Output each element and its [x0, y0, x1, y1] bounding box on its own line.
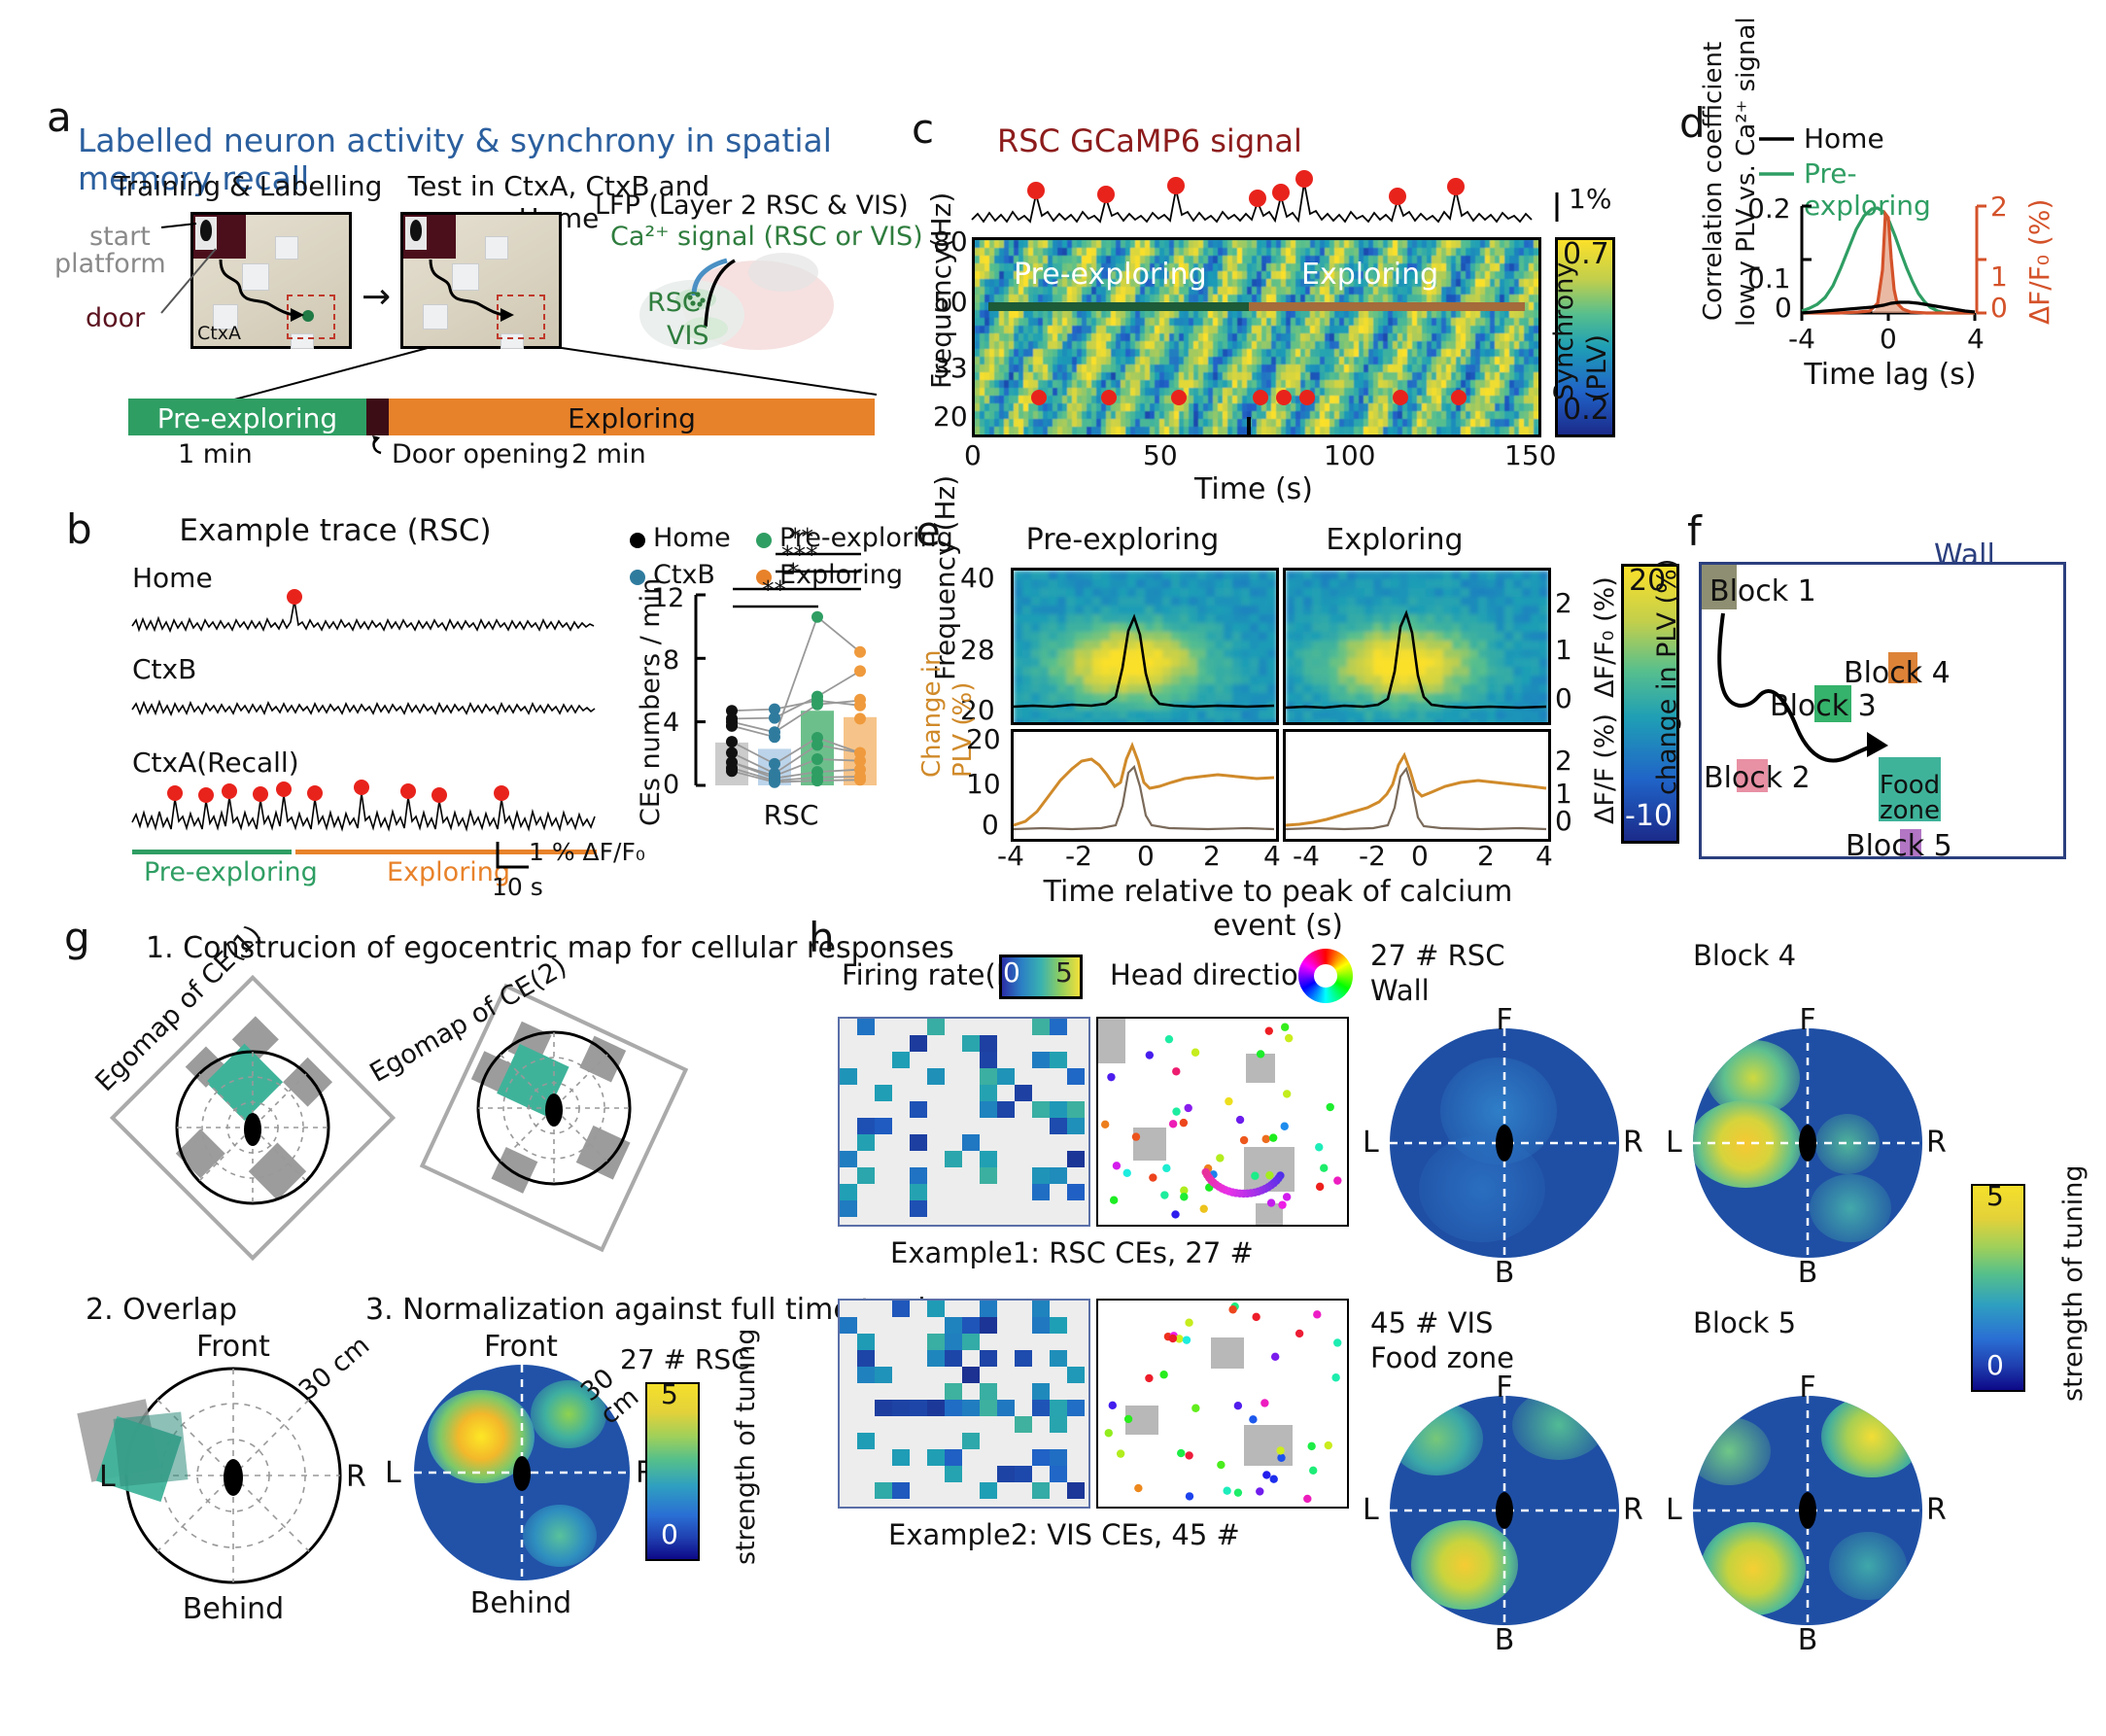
ces-ytick-0: 0	[663, 770, 679, 800]
scale-y-label: 1 % ΔF/F₀	[529, 838, 645, 866]
c-trace-scale: 1%	[1569, 183, 1611, 215]
e-yb-10: 10	[966, 768, 1001, 800]
timeline-bar: Pre-exploring Exploring	[128, 399, 875, 435]
d-xlabel: Time lag (s)	[1800, 358, 1981, 392]
c-ytick-33: 33	[933, 352, 968, 384]
g-polar-right: R	[346, 1460, 366, 1494]
phase-underline-pre	[132, 850, 292, 854]
g-norm-left: L	[385, 1456, 401, 1490]
panel-label-a: a	[47, 93, 72, 141]
phase-label-pre: Pre-exploring	[144, 857, 318, 887]
d-ytick-right-1: 1	[1990, 260, 2008, 293]
c-colorbar-label-1: Synchrony	[1549, 262, 1579, 400]
d-xtick-4: 4	[1967, 323, 1985, 355]
h-tuning-disk-2: F B L R	[1672, 1007, 1944, 1279]
trace-home	[132, 593, 618, 647]
h-disk2-behind: B	[1778, 1256, 1837, 1290]
e-ylabel-bottom-1: Change in	[917, 649, 947, 778]
g-colorbar-label: strength of tuning	[731, 1329, 761, 1565]
h-disk4-right: R	[1926, 1493, 1947, 1527]
brain-label-rsc: RSC	[647, 288, 701, 318]
e-xt-l3: 2	[1203, 840, 1221, 872]
ces-bar-chart: CEs numbers / min 12 8 4 0	[628, 583, 890, 836]
d-legend-home: Home	[1804, 122, 1884, 155]
c-xlabel: Time (s)	[1069, 472, 1438, 506]
h-disk3-front: F	[1475, 1371, 1534, 1405]
e-ytickr-1: 1	[1555, 634, 1572, 666]
h-disk4-crosshair	[1693, 1396, 1922, 1625]
f-arena: Block 1 Block 2 Block 3 Block 4 Block 5 …	[1699, 562, 2066, 859]
h-colorbar-max: 5	[1986, 1180, 2004, 1212]
h-map1-title-2: Wall	[1370, 974, 1430, 1007]
training-heading: Training & Labelling	[107, 170, 389, 202]
legend-label-home: Home	[653, 523, 731, 553]
c-xtick-50: 50	[1143, 439, 1178, 471]
h-firing-rate-min: 0	[1003, 956, 1020, 989]
e-xt-l0: -4	[997, 840, 1024, 872]
e-xt-l1: -2	[1065, 840, 1092, 872]
h-disk2-left: L	[1666, 1126, 1682, 1160]
h-tuning-disk-4: F B L R	[1672, 1374, 1944, 1647]
h-rate-map-1-svg	[840, 1019, 1085, 1221]
g-egomap-2: Egomap of CE(2)	[408, 972, 700, 1244]
e-colorbar-min: -10	[1625, 799, 1673, 833]
e-ytickr-0: 0	[1555, 682, 1572, 714]
ces-ytick-12: 12	[651, 583, 684, 613]
h-rate-map-2-svg	[840, 1301, 1085, 1503]
c-ytick-50: 50	[933, 286, 968, 318]
timeline-exp-label: Exploring	[389, 402, 875, 434]
g-colorbar-max: 5	[661, 1378, 678, 1410]
timeline-door-opening: Door opening	[392, 439, 570, 469]
e-line-pre-svg	[1014, 732, 1276, 839]
d-ytick-02: 0.2	[1747, 192, 1791, 225]
e-colorbar-label: change in PLV (%)	[1652, 559, 1682, 795]
door-pointer-icon	[367, 432, 397, 455]
h-rate-map-1	[838, 1017, 1090, 1227]
g-polar-behind: Behind	[175, 1592, 292, 1626]
h-map1-title-1: 27 # RSC	[1370, 939, 1504, 972]
h-map2-title-1: Block 4	[1693, 939, 1796, 972]
e-xt-r3: 2	[1477, 840, 1495, 872]
legend-line-home	[1759, 136, 1796, 142]
h-map4-title-1: Block 5	[1693, 1306, 1796, 1339]
h-firing-rate-max: 5	[1055, 956, 1073, 989]
d-ytick-right-2: 2	[1990, 191, 2008, 223]
e-ylabel-right-top: ΔF/F₀ (%)	[1590, 576, 1620, 698]
trace-label-home: Home	[132, 562, 213, 594]
e-line-pre	[1011, 729, 1279, 842]
h-colorbar-label: strength of tuning	[2058, 1165, 2089, 1402]
e-ytick-40: 40	[960, 562, 995, 594]
e-xt-l2: 0	[1137, 840, 1155, 872]
e-subtitle-left: Pre-exploring	[991, 523, 1254, 557]
g-colorbar-min: 0	[661, 1518, 678, 1550]
h-example2-caption: Example2: VIS CEs, 45 #	[888, 1518, 1240, 1551]
c-event-markers	[975, 240, 1538, 434]
h-disk4-left: L	[1666, 1493, 1682, 1527]
d-ylabel-right: ΔF/F₀ (%)	[2023, 199, 2055, 325]
c-ytick-20: 20	[933, 400, 968, 433]
ces-ylabel: CEs numbers / min	[636, 578, 666, 826]
d-ytick-0: 0	[1775, 292, 1792, 324]
arena-label-ctxa: CtxA	[197, 323, 241, 344]
h-tuning-disk-1: F B L R	[1368, 1007, 1640, 1279]
d-xtick-0: 0	[1880, 323, 1897, 355]
trace-label-ctxa: CtxA(Recall)	[132, 746, 299, 779]
h-colorbar-min: 0	[1986, 1349, 2004, 1381]
e-ybr-0: 0	[1555, 805, 1572, 837]
e-xt-r2: 0	[1411, 840, 1429, 872]
g-step2: 2. Overlap	[86, 1293, 237, 1327]
head-direction-ring-hole	[1314, 964, 1337, 988]
g-egomap-1: Egomap of CE(1)	[107, 972, 398, 1244]
panel-label-c: c	[912, 105, 934, 153]
h-tuning-disk-3: F B L R	[1368, 1374, 1640, 1647]
arena-photo-test	[400, 212, 562, 349]
e-xt-r0: -4	[1293, 840, 1320, 872]
scale-x-label: 10 s	[492, 873, 543, 901]
h-disk3-behind: B	[1475, 1623, 1534, 1657]
g-normalized-map: Front Behind L R 30 cm	[375, 1332, 667, 1623]
h-scatter-map-2	[1096, 1299, 1349, 1509]
d-ytick-right-0: 0	[1990, 292, 2008, 324]
timeline-exp-duration: 2 min	[571, 439, 646, 469]
d-ytick-01: 0.1	[1747, 262, 1791, 295]
h-disk2-right: R	[1926, 1126, 1947, 1160]
h-disk1-front: F	[1475, 1003, 1534, 1037]
c-colorbar-label-2: (PLV)	[1582, 334, 1612, 400]
h-scatter-map-1	[1096, 1017, 1349, 1227]
annot-leaders	[136, 216, 224, 323]
c-calcium-trace	[972, 173, 1536, 233]
e-subtitle-right: Exploring	[1263, 523, 1526, 557]
h-disk3-left: L	[1363, 1493, 1379, 1527]
e-ytick-28: 28	[960, 634, 995, 666]
timeline-pre-label: Pre-exploring	[128, 402, 366, 434]
panel-label-f: f	[1687, 507, 1702, 555]
legend-line-pre	[1759, 171, 1796, 177]
e-ytickr-2: 2	[1555, 587, 1572, 619]
path-arrow-test	[403, 215, 559, 346]
e-ybr-2: 2	[1555, 745, 1572, 777]
e-ylabel-right-bottom: ΔF/F (%)	[1590, 713, 1620, 824]
h-scatter-2-points	[1098, 1301, 1343, 1503]
h-disk1-right: R	[1623, 1126, 1643, 1160]
h-disk4-front: F	[1778, 1371, 1837, 1405]
timeline-pre-duration: 1 min	[178, 439, 253, 469]
panel-label-h: h	[809, 914, 835, 961]
panel-label-g: g	[64, 914, 90, 961]
g-polar-left: L	[99, 1460, 116, 1494]
h-rate-map-2	[838, 1299, 1090, 1509]
f-trajectory	[1702, 565, 2063, 856]
e-xt-l4: 4	[1263, 840, 1281, 872]
e-xt-r4: 4	[1536, 840, 1553, 872]
sig-star-1: **	[762, 575, 786, 604]
e-overlay-trace-exp	[1286, 571, 1548, 722]
panel-b-title: Example trace (RSC)	[126, 513, 544, 548]
e-heatmap-pre	[1011, 568, 1279, 725]
d-right-axis	[1975, 206, 1990, 315]
h-disk1-left: L	[1363, 1126, 1379, 1160]
d-plot	[1800, 206, 1981, 323]
e-heatmap-exp	[1283, 568, 1551, 725]
h-scatter-1-points	[1098, 1019, 1343, 1221]
legend-dot-pre	[756, 533, 772, 548]
h-disk4-behind: B	[1778, 1623, 1837, 1657]
lfp-label: LFP (Layer 2 RSC & VIS)	[595, 191, 909, 221]
g-norm-behind: Behind	[463, 1586, 579, 1620]
sig-star-4: **	[789, 523, 813, 551]
h-example1-caption: Example1: RSC CEs, 27 #	[890, 1236, 1254, 1269]
g-norm-front: Front	[463, 1330, 579, 1364]
c-xtick-150: 150	[1504, 439, 1556, 471]
h-map3-title-2: Food zone	[1370, 1341, 1514, 1374]
c-scale-bar-icon	[1551, 191, 1571, 226]
c-spectrogram: Pre-exploring Exploring	[972, 237, 1541, 437]
trace-ctxb	[132, 684, 618, 733]
c-ytick-80: 80	[933, 226, 968, 258]
h-disk2-crosshair	[1693, 1028, 1922, 1258]
panel-label-b: b	[66, 505, 92, 553]
g-egomap-1-svg	[107, 972, 398, 1244]
trace-label-ctxb: CtxB	[132, 653, 196, 685]
ces-ytick-4: 4	[663, 708, 679, 738]
h-disk2-front: F	[1778, 1003, 1837, 1037]
step-arrow: →	[362, 277, 391, 317]
h-map3-title-1: 45 # VIS	[1370, 1306, 1493, 1339]
ces-plot-area	[694, 595, 884, 795]
c-xtick-100: 100	[1324, 439, 1375, 471]
h-disk1-behind: B	[1475, 1256, 1534, 1290]
e-xlabel: Time relative to peak of calcium event (…	[1011, 875, 1545, 943]
g-polar-front: Front	[175, 1330, 292, 1364]
c-xtick-0: 0	[964, 439, 982, 471]
ces-xlabel: RSC	[694, 799, 888, 831]
e-xt-r1: -2	[1359, 840, 1386, 872]
e-line-exp-svg	[1286, 732, 1548, 839]
panel-c-title: RSC GCaMP6 signal	[997, 122, 1302, 159]
e-line-exp	[1283, 729, 1551, 842]
ces-ytick-8: 8	[663, 645, 679, 676]
e-overlay-trace-pre	[1014, 571, 1276, 722]
h-disk1-crosshair	[1390, 1028, 1619, 1258]
g-overlap-polar: Front Behind L R 30 cm	[86, 1332, 377, 1623]
legend-dot-home	[630, 533, 645, 548]
d-ylabel-line1: Correlation coefficient	[1699, 42, 1728, 321]
e-yb-0: 0	[982, 809, 999, 841]
d-xtick-n4: -4	[1788, 323, 1815, 355]
e-yb-20: 20	[966, 723, 1001, 755]
h-disk3-crosshair	[1390, 1396, 1619, 1625]
h-disk3-right: R	[1623, 1493, 1643, 1527]
timeline-door-block	[366, 399, 389, 435]
h-head-direction-label: Head direction	[1110, 958, 1316, 991]
